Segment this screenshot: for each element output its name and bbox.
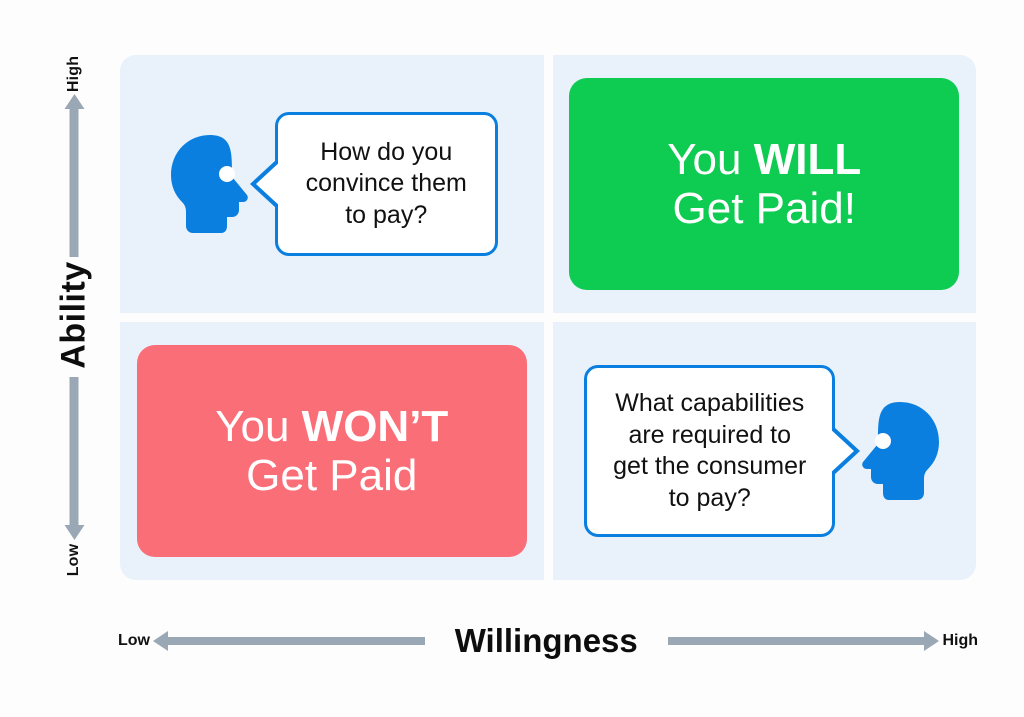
ability-axis-low-label: Low bbox=[65, 544, 83, 577]
ability-axis-title: Ability bbox=[55, 261, 94, 368]
bubble-line: convince them bbox=[306, 168, 467, 200]
bubble-line: are required to bbox=[613, 420, 806, 452]
quadrant-low-ability-low-willingness[interactable]: You WON’T Get Paid bbox=[120, 322, 544, 580]
ability-axis: High Ability Low bbox=[36, 45, 112, 585]
outcome-line-2: Get Paid! bbox=[673, 184, 856, 233]
outcome-card-will-get-paid[interactable]: You WILL Get Paid! bbox=[569, 78, 959, 290]
arrow-right-icon bbox=[668, 637, 927, 645]
arrow-down-icon bbox=[70, 377, 79, 527]
question-bubble: How do you convince them to pay? bbox=[275, 112, 498, 257]
outcome-line-2: Get Paid bbox=[246, 451, 417, 500]
arrow-left-icon bbox=[166, 637, 425, 645]
person-head-icon bbox=[166, 133, 258, 236]
outcome-line-1: You WON’T bbox=[215, 402, 448, 451]
quadrant-high-ability-low-willingness[interactable]: How do you convince them to pay? bbox=[120, 55, 544, 313]
outcome-emphasis: WON’T bbox=[302, 402, 449, 451]
bubble-line: to pay? bbox=[613, 483, 806, 515]
question-group: How do you convince them to pay? bbox=[166, 112, 498, 257]
ability-axis-high-label: High bbox=[65, 56, 83, 92]
willingness-axis-low-label: Low bbox=[118, 632, 150, 650]
outcome-line-1: You WILL bbox=[667, 135, 861, 184]
outcome-card-wont-get-paid[interactable]: You WON’T Get Paid bbox=[137, 345, 527, 557]
bubble-line: What capabilities bbox=[613, 388, 806, 420]
quadrant-high-ability-high-willingness[interactable]: You WILL Get Paid! bbox=[553, 55, 977, 313]
outcome-prefix: You bbox=[215, 402, 301, 451]
quadrant-matrix: How do you convince them to pay? You WIL… bbox=[120, 55, 976, 580]
person-head-icon bbox=[852, 400, 944, 503]
outcome-emphasis: WILL bbox=[754, 135, 862, 184]
bubble-line: How do you bbox=[306, 137, 467, 169]
willingness-axis-high-label: High bbox=[942, 632, 978, 650]
question-bubble: What capabilities are required to get th… bbox=[584, 365, 835, 537]
willingness-axis-title: Willingness bbox=[439, 622, 654, 660]
arrow-up-icon bbox=[70, 107, 79, 257]
quadrant-low-ability-high-willingness[interactable]: What capabilities are required to get th… bbox=[553, 322, 977, 580]
question-group: What capabilities are required to get th… bbox=[584, 365, 944, 537]
bubble-line: get the consumer bbox=[613, 451, 806, 483]
bubble-line: to pay? bbox=[306, 200, 467, 232]
willingness-axis: Low Willingness High bbox=[118, 612, 978, 670]
outcome-prefix: You bbox=[667, 135, 753, 184]
